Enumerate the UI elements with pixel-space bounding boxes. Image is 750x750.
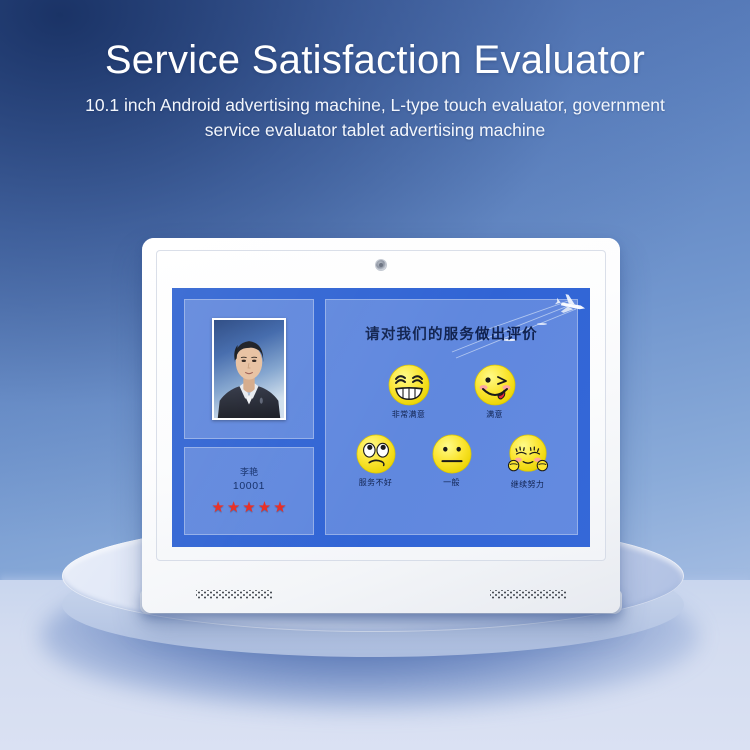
worried-face-icon	[355, 433, 397, 475]
staff-name: 李艳	[240, 467, 258, 478]
option-satisfied[interactable]: 满意	[452, 363, 538, 419]
evaluation-row-2: 服务不好 一般	[334, 433, 569, 489]
page-subtitle: 10.1 inch Android advertising machine, L…	[55, 93, 695, 143]
rating-star: ★	[242, 500, 255, 515]
winking-tongue-face-icon	[473, 363, 517, 407]
evaluation-row-1: 非常满意 满意	[334, 363, 569, 419]
option-very-satisfied[interactable]: 非常满意	[366, 363, 452, 419]
option-label: 服务不好	[359, 479, 393, 487]
option-label: 满意	[486, 411, 503, 419]
option-label: 一般	[443, 479, 460, 487]
cheering-face-icon	[505, 433, 551, 477]
speaker-grille-left-icon	[196, 590, 272, 599]
option-average[interactable]: 一般	[414, 433, 490, 489]
option-keep-trying[interactable]: 继续努力	[490, 433, 566, 489]
staff-column: 李艳 10001 ★ ★ ★ ★ ★	[184, 299, 314, 535]
tablet-device: 李艳 10001 ★ ★ ★ ★ ★ 请对我们的服务做出评价	[142, 238, 620, 613]
staff-rating-stars: ★ ★ ★ ★ ★	[211, 500, 286, 515]
tablet-screen: 李艳 10001 ★ ★ ★ ★ ★ 请对我们的服务做出评价	[172, 288, 590, 547]
staff-id-photo	[214, 320, 284, 418]
rating-star: ★	[273, 500, 286, 515]
neutral-face-icon	[431, 433, 473, 475]
option-label: 非常满意	[392, 411, 426, 419]
option-label: 继续努力	[511, 481, 545, 489]
rating-star: ★	[227, 500, 240, 515]
rating-star: ★	[258, 500, 271, 515]
staff-info-panel: 李艳 10001 ★ ★ ★ ★ ★	[184, 447, 314, 535]
staff-photo-frame	[212, 318, 286, 420]
speaker-grille-right-icon	[490, 590, 566, 599]
option-bad-service[interactable]: 服务不好	[338, 433, 414, 489]
rating-star: ★	[211, 500, 224, 515]
staff-photo-panel	[184, 299, 314, 439]
front-camera-icon	[376, 260, 386, 270]
grinning-face-icon	[387, 363, 431, 407]
evaluation-prompt: 请对我们的服务做出评价	[365, 328, 538, 343]
page-header: Service Satisfaction Evaluator 10.1 inch…	[0, 38, 750, 143]
evaluation-panel: 请对我们的服务做出评价	[325, 299, 578, 535]
staff-id: 10001	[233, 480, 265, 493]
page-title: Service Satisfaction Evaluator	[0, 38, 750, 82]
